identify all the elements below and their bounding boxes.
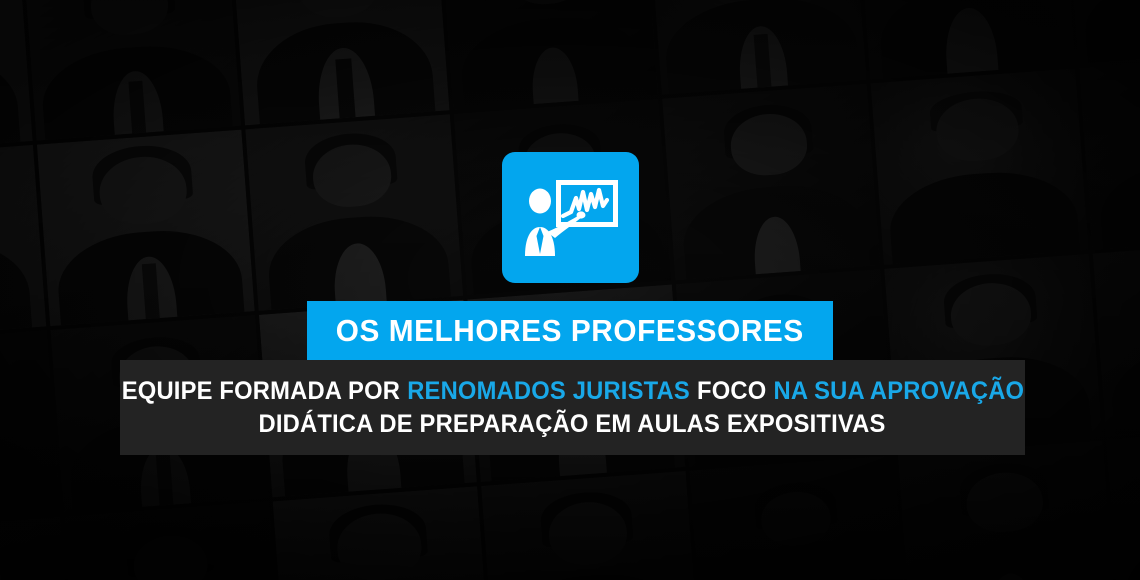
presenter-whiteboard-icon — [502, 152, 639, 283]
subtitle-seg-4: NA SUA APROVAÇÃO — [773, 377, 1024, 405]
page-title: OS MELHORES PROFESSORES — [336, 315, 804, 346]
subtitle-line-2: DIDÁTICA DE PREPARAÇÃO EM AULAS EXPOSITI… — [259, 411, 886, 438]
subtitle-line-1: EQUIPE FORMADA PORRENOMADOS JURISTASFOCO… — [121, 378, 1023, 405]
subtitle-seg-2: RENOMADOS JURISTAS — [407, 377, 690, 405]
promo-banner: OS MELHORES PROFESSORES EQUIPE FORMADA P… — [0, 0, 1140, 580]
title-band: OS MELHORES PROFESSORES — [307, 301, 833, 360]
subtitle-panel: EQUIPE FORMADA PORRENOMADOS JURISTASFOCO… — [120, 360, 1025, 455]
banner-content: OS MELHORES PROFESSORES EQUIPE FORMADA P… — [0, 0, 1140, 580]
subtitle-seg-3: FOCO — [697, 377, 766, 405]
subtitle-seg-1: EQUIPE FORMADA POR — [121, 377, 399, 405]
